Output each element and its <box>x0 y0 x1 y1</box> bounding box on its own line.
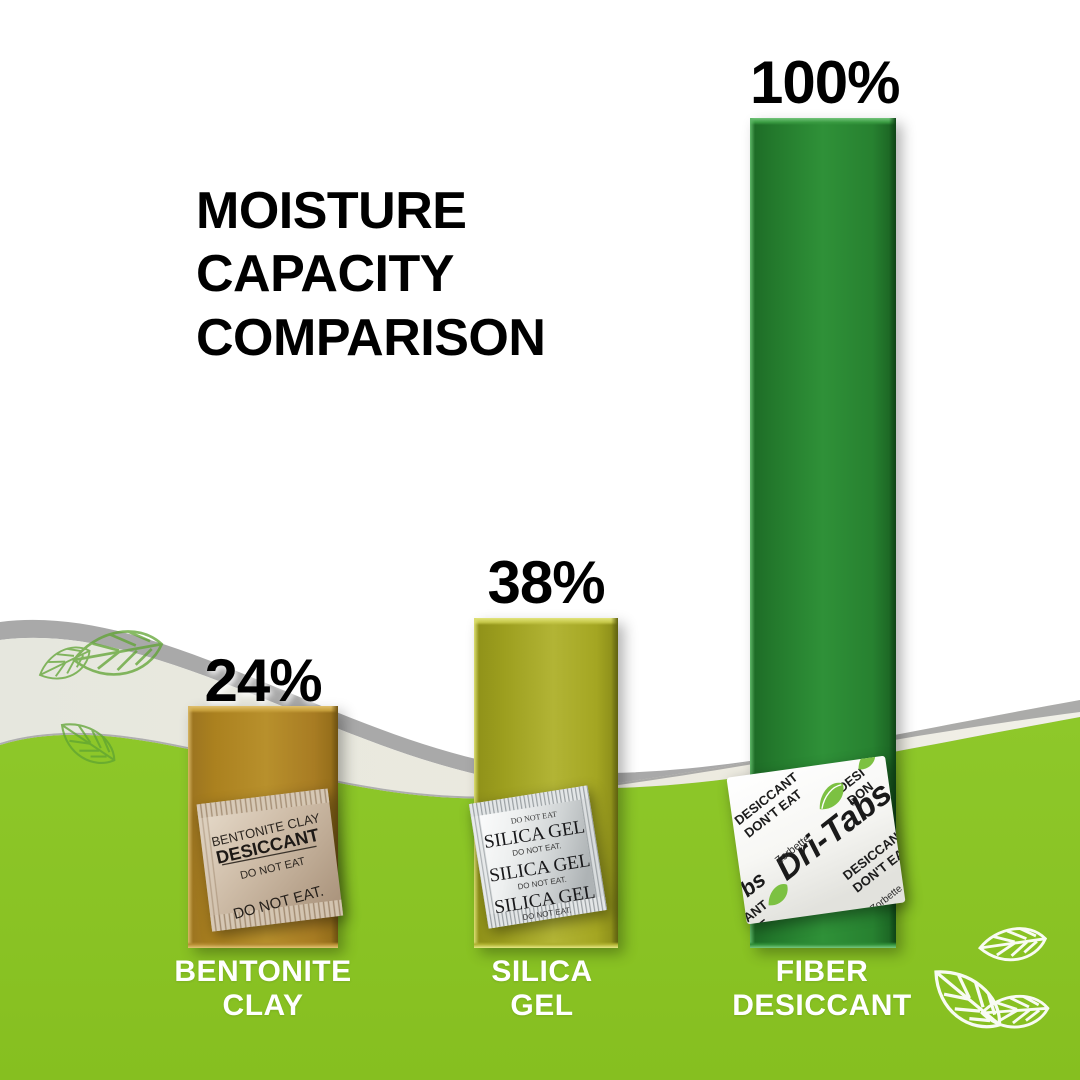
bar-bevel-bottom <box>188 942 338 948</box>
bar-bevel-top <box>188 706 338 713</box>
category-label-line-1: SILICA <box>491 955 592 988</box>
category-label-line-2: GEL <box>510 989 573 1022</box>
value-label-bentonite-clay: 24% <box>188 646 338 715</box>
silica-gel-packet: DO NOT EAT SILICA GEL DO NOT EAT. SILICA… <box>468 782 608 932</box>
category-label-line-1: FIBER <box>776 955 869 988</box>
category-label-bentonite-clay: BENTONITE CLAY <box>174 955 351 1022</box>
bar-bevel-bottom <box>750 942 896 948</box>
bar-bevel-bottom <box>474 942 618 948</box>
value-label-fiber-desiccant: 100% <box>750 48 896 117</box>
bentonite-clay-packet: BENTONITE CLAY DESICCANT DO NOT EAT DO N… <box>196 786 344 936</box>
bar-bevel-left <box>188 706 193 948</box>
category-label-line-2: CLAY <box>223 989 304 1022</box>
bar-bevel-right <box>611 618 618 948</box>
fiber-desiccant-packet: DESICCANT DON'T EAT DESI DON Dri-Tabs ® … <box>718 748 914 930</box>
infographic-canvas: MOISTURE CAPACITY COMPARISON 24% <box>0 0 1080 1080</box>
category-label-silica-gel: SILICA GEL <box>491 955 592 1022</box>
category-label-line-2: DESICCANT <box>732 989 912 1022</box>
category-label-line-1: BENTONITE <box>174 955 351 988</box>
category-label-fiber-desiccant: FIBER DESICCANT <box>732 955 912 1022</box>
bar-bevel-top <box>750 118 896 125</box>
bar-bevel-top <box>474 618 618 625</box>
value-label-silica-gel: 38% <box>474 548 618 617</box>
